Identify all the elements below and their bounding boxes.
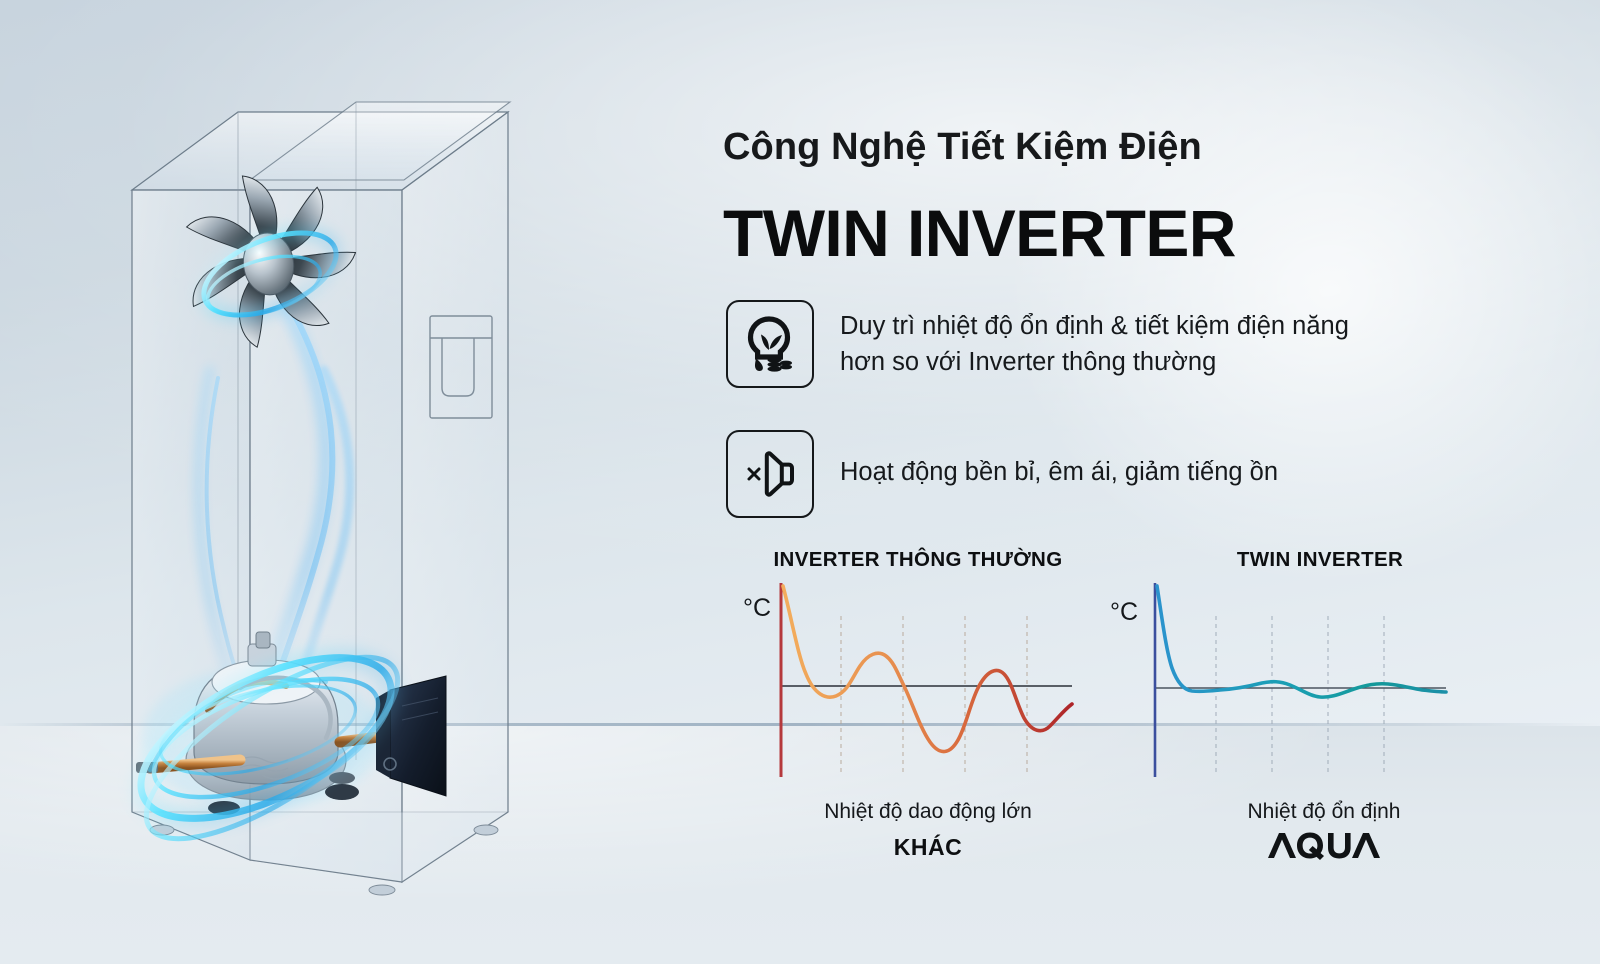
- feature-item-low-noise: Hoạt động bền bỉ, êm ái, giảm tiếng ồn: [726, 430, 1278, 518]
- feature-text-low-noise: Hoạt động bền bỉ, êm ái, giảm tiếng ồn: [840, 430, 1278, 490]
- chart-gridlines: [841, 616, 1027, 776]
- refrigerator-svg: [90, 70, 650, 900]
- chart-plot-twin: [1110, 578, 1450, 808]
- promo-banner: Công Nghệ Tiết Kiệm Điện TWIN INVERTER D…: [0, 0, 1600, 964]
- feature-text-energy-saving: Duy trì nhiệt độ ổn định & tiết kiệm điệ…: [840, 300, 1349, 380]
- chart-gridlines: [1216, 616, 1384, 776]
- chart-plot-conventional: [736, 578, 1076, 808]
- chart-brand-other: KHÁC: [728, 834, 1128, 861]
- chart-title-twin: TWIN INVERTER: [1120, 548, 1520, 572]
- chart-caption-twin: Nhiệt độ ổn định: [1124, 800, 1524, 824]
- chart-line-twin: [1157, 586, 1446, 697]
- page-title: TWIN INVERTER: [723, 195, 1236, 271]
- feature-item-energy-saving: Duy trì nhiệt độ ổn định & tiết kiệm điệ…: [726, 300, 1349, 388]
- content-panel: Công Nghệ Tiết Kiệm Điện TWIN INVERTER D…: [720, 0, 1600, 964]
- comparison-charts: INVERTER THÔNG THƯỜNG °C: [720, 548, 1600, 878]
- eco-bulb-coins-icon: [726, 300, 814, 388]
- refrigerator-illustration: [90, 70, 650, 900]
- chart-title-conventional: INVERTER THÔNG THƯỜNG: [718, 548, 1118, 572]
- chart-caption-conventional: Nhiệt độ dao động lớn: [728, 800, 1128, 824]
- chart-twin-inverter: TWIN INVERTER °C: [1110, 548, 1510, 878]
- chart-conventional-inverter: INVERTER THÔNG THƯỜNG °C: [736, 548, 1136, 878]
- eyebrow-text: Công Nghệ Tiết Kiệm Điện: [723, 126, 1202, 169]
- chart-line-conventional: [783, 586, 1072, 752]
- chart-brand-aqua: [1124, 830, 1524, 860]
- aqua-logo-mark: [1266, 830, 1382, 860]
- mute-speaker-icon: [726, 430, 814, 518]
